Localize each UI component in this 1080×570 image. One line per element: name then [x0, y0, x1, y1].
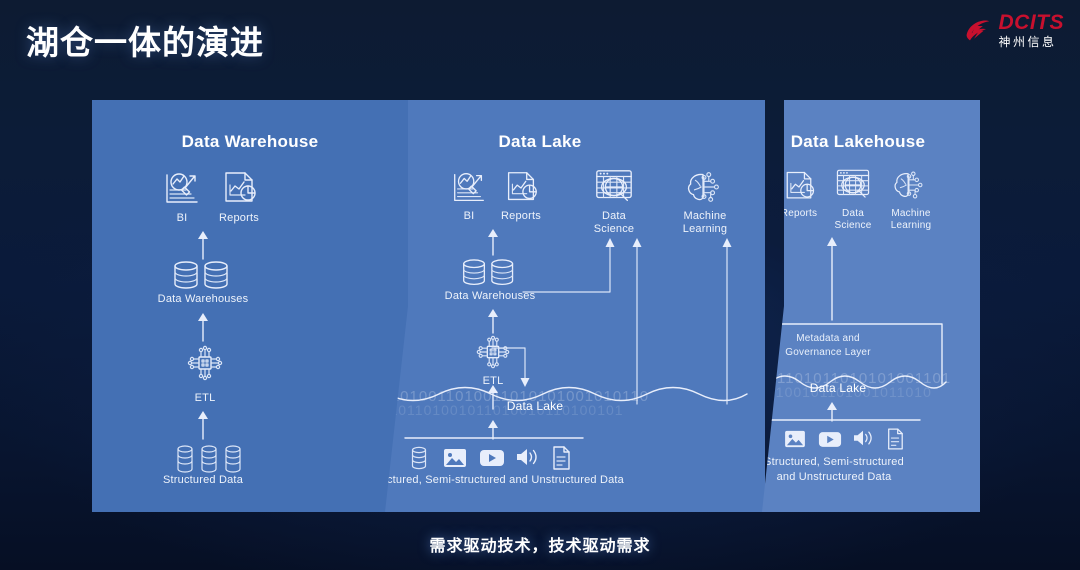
evolution-diagram: Data Warehouse BI — [92, 100, 980, 512]
data-warehouses-icon — [170, 258, 236, 298]
audio-icon — [515, 447, 539, 467]
label-machine-learning: Machine Learning — [872, 208, 950, 232]
logo-text-cn: 神州信息 — [999, 36, 1065, 48]
label-structured-data: Structured Data — [113, 474, 293, 487]
reports-icon — [218, 168, 260, 210]
arrow-up-etl-to-warehouse — [196, 312, 210, 342]
document-icon — [886, 428, 904, 450]
label-data-lake: Data Lake — [768, 382, 908, 395]
source-bus-line — [744, 418, 922, 422]
label-reports: Reports — [204, 212, 274, 225]
reports-icon — [780, 168, 818, 206]
label-data-lake: Data Lake — [455, 400, 615, 413]
structured-data-icon — [175, 444, 243, 476]
database-icon — [409, 446, 429, 470]
panel-title-data-lake: Data Lake — [365, 132, 715, 152]
panel-title-data-warehouse: Data Warehouse — [92, 132, 408, 152]
data-science-icon — [834, 166, 872, 204]
machine-learning-icon — [683, 166, 725, 208]
image-icon — [443, 448, 467, 468]
slide-caption: 需求驱动技术，技术驱动需求 — [0, 532, 1080, 556]
bi-icon — [449, 168, 489, 208]
panel-title-data-lakehouse: Data Lakehouse — [748, 132, 968, 152]
label-etl: ETL — [175, 392, 235, 405]
label-data-warehouses: Data Warehouses — [108, 293, 298, 306]
video-icon — [479, 449, 505, 467]
source-bus-line — [403, 436, 585, 440]
dcits-swoosh-icon — [962, 14, 994, 46]
page-title: 湖仓一体的演进 — [26, 16, 264, 64]
video-icon — [818, 431, 842, 448]
audio-icon — [852, 429, 874, 447]
arrow-up-warehouse-to-bi — [196, 230, 210, 260]
bi-icon — [161, 168, 203, 210]
arrow-up-source-to-etl — [196, 410, 210, 440]
document-icon — [551, 446, 571, 470]
machine-learning-icon — [890, 166, 928, 204]
data-science-icon — [593, 166, 635, 208]
image-icon — [784, 430, 806, 448]
etl-chip-icon — [186, 344, 224, 382]
reports-icon — [501, 168, 541, 208]
brand-logo: DCITS 神州信息 — [962, 12, 1065, 48]
logo-text-en: DCITS — [999, 12, 1065, 33]
panel-data-warehouse: Data Warehouse BI — [92, 100, 408, 512]
arrow-up-lakehouse-to-consumers — [825, 235, 839, 321]
label-reports: Reports — [486, 210, 556, 223]
slide-canvas: 湖仓一体的演进 DCITS 神州信息 Data Warehouse — [0, 0, 1080, 570]
